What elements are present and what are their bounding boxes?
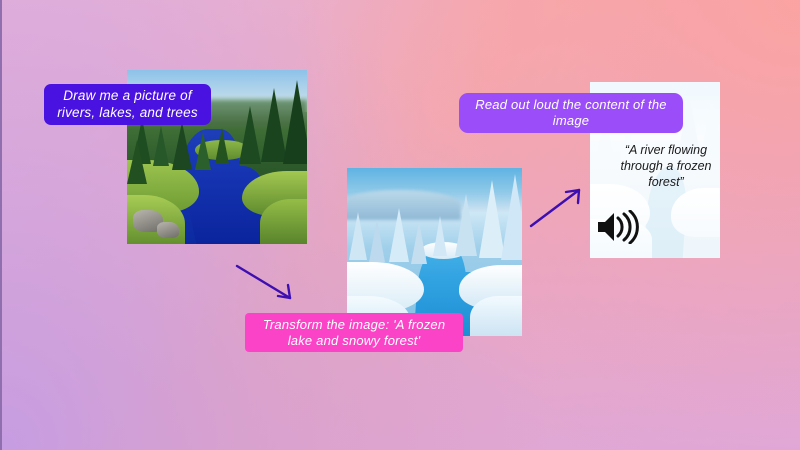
- pine-tree: [153, 126, 169, 166]
- snowy-pine-tree: [501, 174, 522, 260]
- pine-tree: [239, 106, 261, 164]
- pine-tree: [172, 122, 192, 170]
- snowy-pine-tree: [455, 194, 477, 256]
- speaker-icon[interactable]: [596, 210, 640, 244]
- right-snowbank-lower: [470, 296, 523, 336]
- prompt-bubble-draw[interactable]: Draw me a picture of rivers, lakes, and …: [44, 84, 211, 125]
- pine-tree: [127, 140, 147, 184]
- spoken-caption-text: “A river flowing through a frozen forest…: [610, 142, 722, 190]
- snowy-pine-tree: [349, 212, 367, 260]
- arrow-draw-to-transform: [234, 258, 304, 310]
- arrow-transform-to-read: [529, 184, 589, 234]
- slide-canvas: “A river flowing through a frozen forest…: [0, 0, 800, 450]
- rock: [157, 222, 179, 238]
- image-snow-river[interactable]: [347, 168, 522, 336]
- pine-tree: [283, 80, 307, 164]
- prompt-bubble-read[interactable]: Read out loud the content of the image: [459, 93, 683, 133]
- snowy-pine-tree: [433, 216, 447, 256]
- snowy-pine-tree: [411, 222, 427, 264]
- snowy-pine-tree: [369, 220, 385, 262]
- prompt-bubble-transform[interactable]: Transform the image: 'A frozen lake and …: [245, 313, 463, 352]
- pine-tree: [195, 132, 211, 170]
- pine-tree: [215, 128, 229, 164]
- snowy-pine-tree: [389, 208, 409, 262]
